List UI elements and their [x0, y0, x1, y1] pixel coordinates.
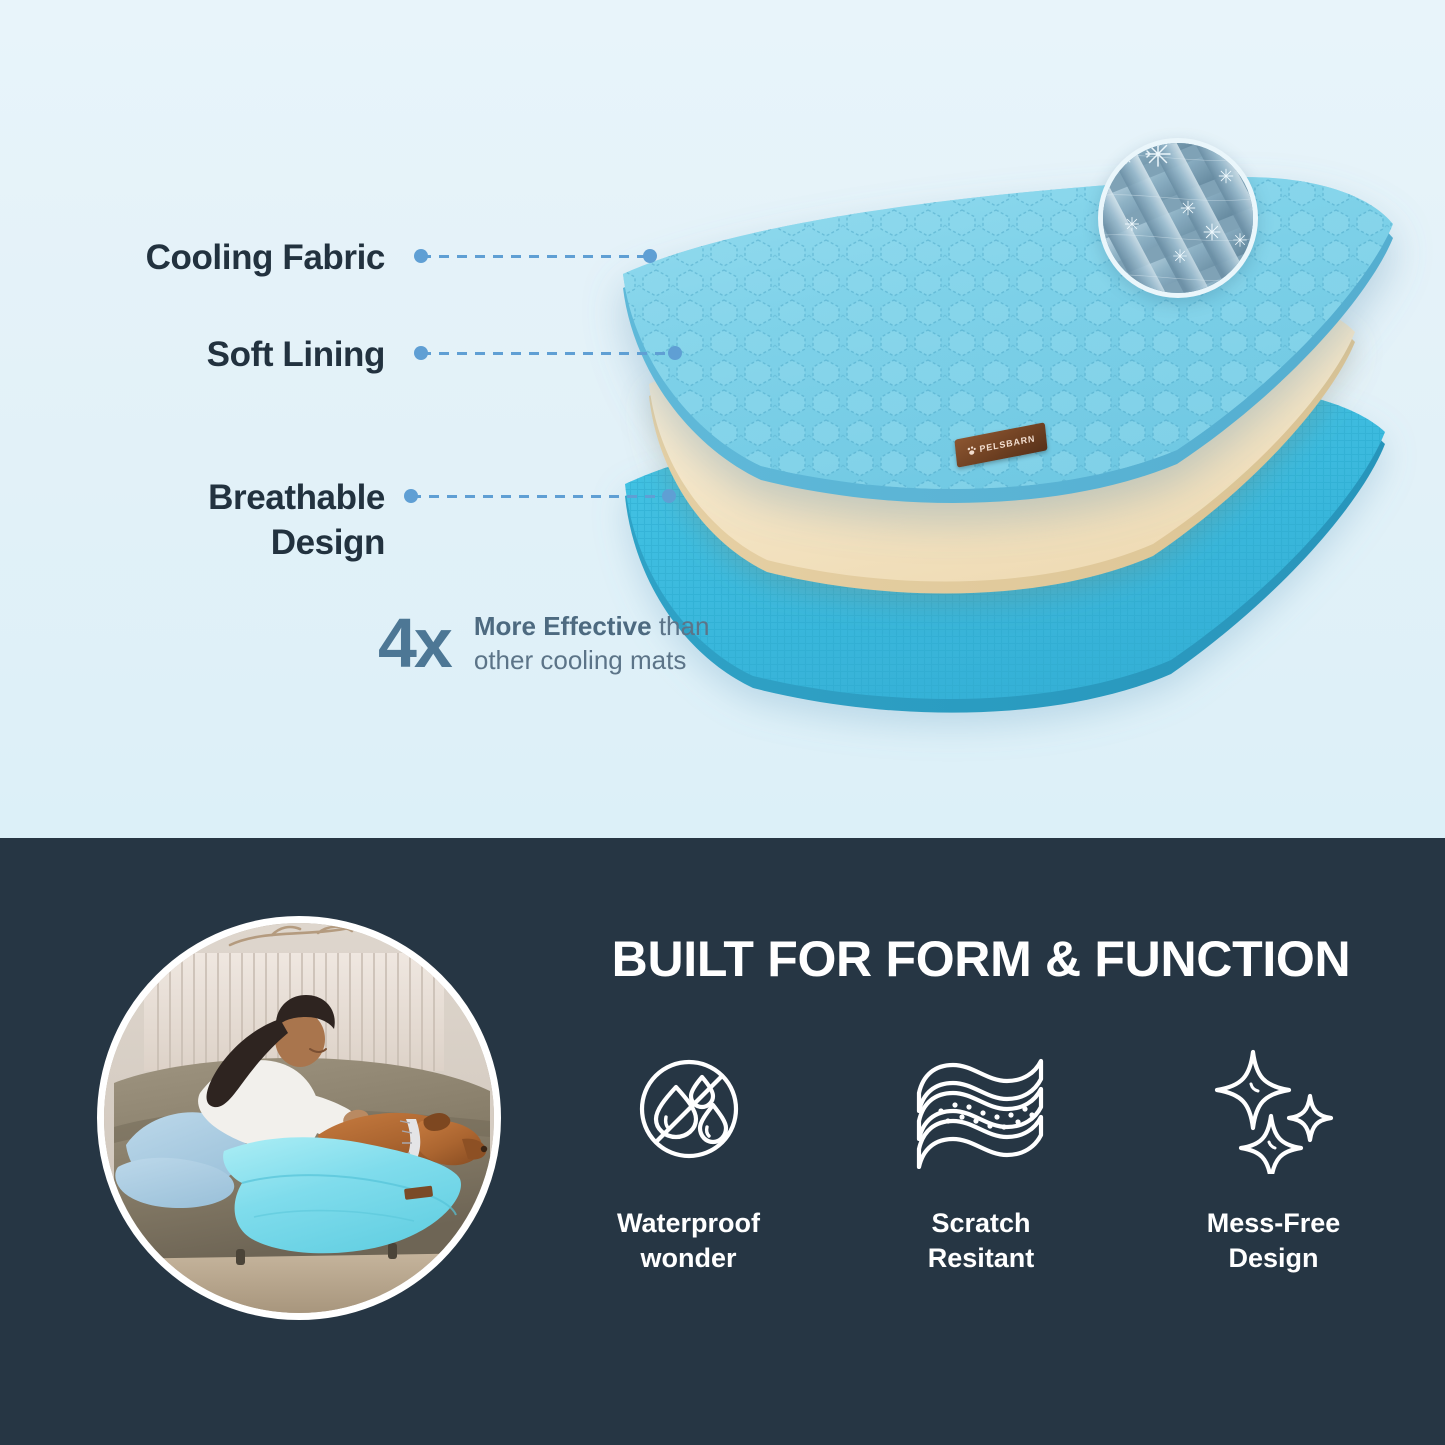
features-panel: BUILT FOR FORM & FUNCTION Waterproof won…	[0, 838, 1445, 1445]
dashed-line	[411, 495, 669, 498]
claim-rest-text: than	[652, 611, 710, 641]
dashed-line	[421, 255, 650, 258]
feature-label-waterproof: Waterproof wonder	[617, 1206, 760, 1275]
connector-dot-end	[662, 489, 676, 503]
paw-mark-icon	[966, 445, 977, 457]
feature-label-scratch-resistant: Scratch Resitant	[928, 1206, 1035, 1275]
fabric-waves-icon	[911, 1034, 1051, 1184]
sparkles-icon	[1209, 1034, 1339, 1184]
claim-second-line: other cooling mats	[474, 645, 686, 675]
product-infographic: PELSBARN	[0, 0, 1445, 1445]
fabric-weave-zoom-bubble	[1098, 138, 1258, 298]
feature-label-mess-free: Mess-Free Design	[1207, 1206, 1341, 1275]
connector-line-breathable-design	[404, 489, 676, 503]
claim-description: More Effective than other cooling mats	[474, 609, 710, 678]
effectiveness-claim: 4x More Effective than other cooling mat…	[378, 608, 709, 678]
claim-bold-text: More Effective	[474, 611, 652, 641]
connector-dot-end	[668, 346, 682, 360]
brand-name: PELSBARN	[979, 433, 1036, 454]
woman-petting-dog-on-couch-illustration	[104, 923, 494, 1313]
layers-panel: PELSBARN	[0, 0, 1445, 838]
cooling-fabric-top-layer	[605, 178, 1395, 558]
fabric-weave-snowflake-closeup-icon	[1098, 138, 1258, 298]
layer-label-cooling-fabric: Cooling Fabric	[146, 236, 385, 281]
connector-dot-end	[643, 249, 657, 263]
connector-line-cooling-fabric	[414, 249, 657, 263]
feature-mess-free: Mess-Free Design	[1141, 1034, 1406, 1275]
feature-waterproof: Waterproof wonder	[556, 1034, 821, 1275]
feature-scratch-resistant: Scratch Resitant	[849, 1034, 1114, 1275]
features-headline: BUILT FOR FORM & FUNCTION	[556, 930, 1406, 988]
dashed-line	[421, 352, 675, 355]
connector-dot-start	[414, 249, 428, 263]
layer-label-soft-lining: Soft Lining	[207, 333, 385, 378]
features-row: Waterproof wonder	[556, 1034, 1406, 1275]
exploded-mat-illustration: PELSBARN	[585, 120, 1415, 740]
lifestyle-photo	[97, 916, 501, 1320]
no-water-drops-icon	[629, 1034, 749, 1184]
claim-multiplier: 4x	[378, 608, 450, 678]
connector-dot-start	[404, 489, 418, 503]
connector-line-soft-lining	[414, 346, 682, 360]
layer-label-breathable-design: Breathable Design	[208, 476, 385, 566]
connector-dot-start	[414, 346, 428, 360]
